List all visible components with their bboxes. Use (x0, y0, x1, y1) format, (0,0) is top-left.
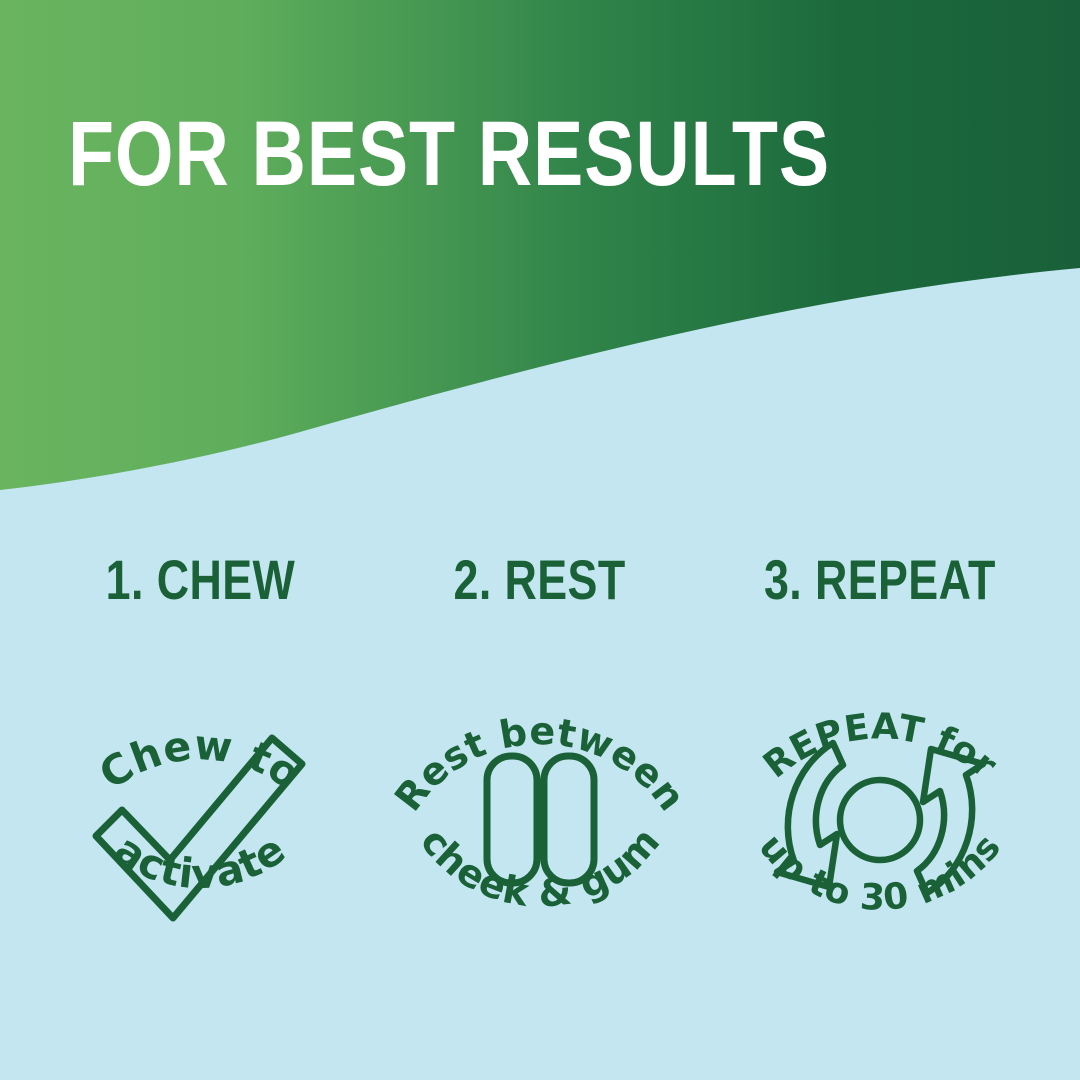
step-repeat: 3. REPEAT REPEAT for up to 30 mins (720, 540, 1040, 1010)
cycle-center-circle (840, 780, 920, 860)
badge-repeat: REPEAT for up to 30 mins (720, 648, 1040, 988)
badge-rest: Rest between cheek & gum (380, 648, 700, 988)
step-chew: 1. CHEW Chew to activate (40, 540, 360, 1010)
header-band: FOR BEST RESULTS (0, 0, 1080, 520)
two-pouches-icon (487, 756, 594, 883)
page-title: FOR BEST RESULTS (68, 108, 830, 200)
steps-row: 1. CHEW Chew to activate (0, 540, 1080, 1010)
step-rest: 2. REST Rest between cheek & gum (380, 540, 700, 1010)
header-curve-shape (0, 0, 1080, 490)
curved-text-top-chew: Chew to (91, 721, 310, 799)
poster-canvas: FOR BEST RESULTS 1. CHEW Chew to (0, 0, 1080, 1080)
curved-text-top-chew-path: Chew to (91, 721, 310, 799)
step-title-chew: 1. CHEW (105, 552, 294, 608)
badge-chew: Chew to activate (40, 648, 360, 988)
step-title-repeat: 3. REPEAT (764, 552, 996, 608)
step-title-rest: 2. REST (454, 552, 626, 608)
